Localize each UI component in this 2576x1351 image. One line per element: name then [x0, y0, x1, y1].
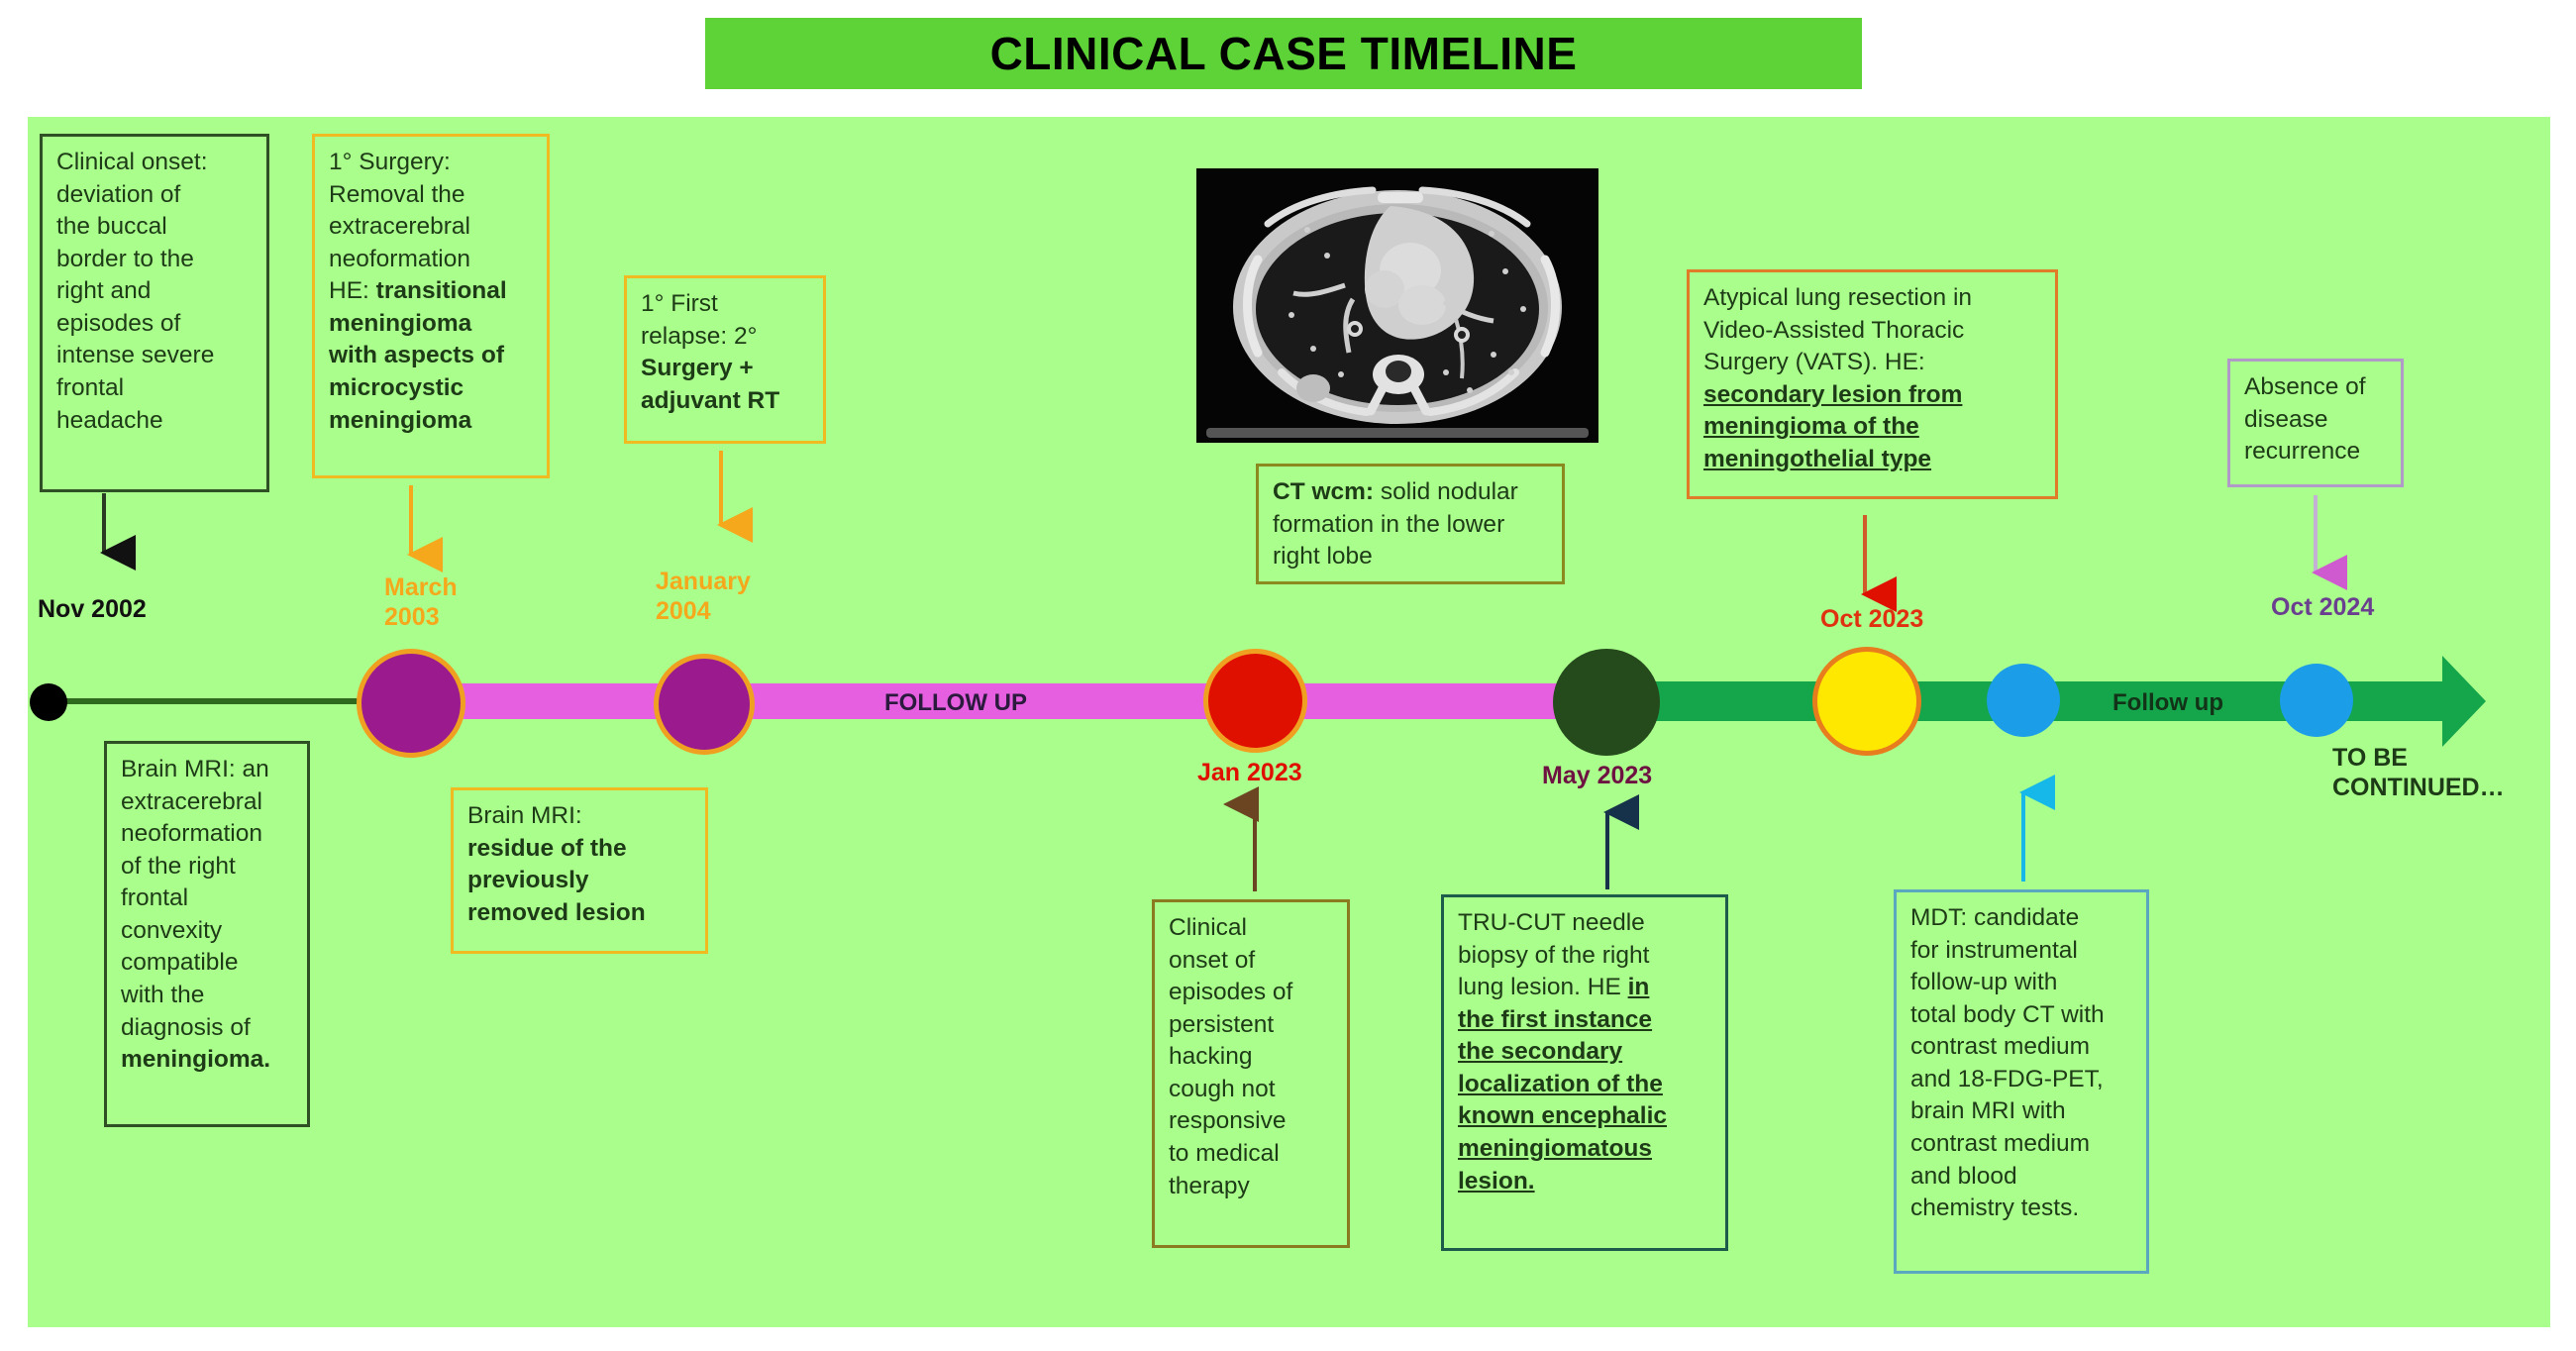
timeline-dot-mdt[interactable] [1987, 664, 2060, 737]
note-line: episodes of [1169, 977, 1335, 1009]
note-line: biopsy of the right [1458, 940, 1713, 973]
note-line: Surgery + [641, 353, 811, 385]
note-line: localization of the [1458, 1069, 1713, 1101]
segment-label-follow-up-2: Follow up [2112, 689, 2223, 717]
note-line: convexity [121, 915, 295, 948]
note-line: brain MRI with [1910, 1095, 2134, 1128]
note-line: microcystic [329, 372, 535, 405]
note-line: cough not [1169, 1074, 1335, 1106]
note-line: secondary lesion from [1703, 379, 2043, 412]
note-line: meningiomatous [1458, 1133, 1713, 1166]
note-line: the buccal [56, 211, 255, 244]
note-brain-mri-initial: Brain MRI: an extracerebral neoformation… [104, 741, 310, 1127]
note-line: episodes of [56, 308, 255, 341]
note-line: lung lesion. HE in [1458, 972, 1713, 1004]
timeline-dot-oct-2024[interactable] [2280, 664, 2353, 737]
note-line: 1° First [641, 288, 811, 321]
clinical-case-timeline-figure: CLINICAL CASE TIMELINE [0, 0, 2576, 1351]
note-line: meningioma [329, 308, 535, 341]
note-line: Video-Assisted Thoracic [1703, 315, 2043, 348]
note-line: TRU-CUT needle [1458, 907, 1713, 940]
chest-ct-axial-scan [1196, 168, 1598, 443]
title-banner: CLINICAL CASE TIMELINE [705, 18, 1862, 89]
note-clinical-onset: Clinical onset: deviation of the buccal … [40, 134, 269, 492]
note-line: right lobe [1273, 541, 1550, 573]
note-line: neoformation [121, 818, 295, 851]
note-line: compatible [121, 947, 295, 980]
note-line: residue of the [467, 833, 693, 866]
note-first-relapse: 1° First relapse: 2° Surgery + adjuvant … [624, 275, 826, 444]
note-line: 1° Surgery: [329, 147, 535, 179]
note-line: diagnosis of [121, 1012, 295, 1045]
note-line: formation in the lower [1273, 509, 1550, 542]
date-label-nov-2002: Nov 2002 [38, 594, 147, 624]
note-line: removed lesion [467, 897, 693, 930]
segment-label-follow-up-1: FOLLOW UP [884, 689, 1027, 717]
note-line: contrast medium [1910, 1128, 2134, 1161]
note-line: CT wcm: solid nodular [1273, 476, 1550, 509]
note-line: meningioma of the [1703, 411, 2043, 444]
note-line: frontal [121, 883, 295, 915]
date-label-oct-2023: Oct 2023 [1820, 604, 1923, 634]
note-line: frontal [56, 372, 255, 405]
lung-nodule [1296, 374, 1330, 402]
note-line: onset of [1169, 945, 1335, 978]
timeline-dot-march-2003[interactable] [357, 649, 465, 758]
timeline-dot-jan-2023[interactable] [1203, 649, 1307, 753]
note-line: and blood [1910, 1161, 2134, 1194]
timeline-dot-january-2004[interactable] [654, 654, 755, 755]
note-line: MDT: candidate [1910, 902, 2134, 935]
note-line: Clinical onset: [56, 147, 255, 179]
note-first-surgery: 1° Surgery: Removal the extracerebral ne… [312, 134, 550, 478]
note-line: neoformation [329, 244, 535, 276]
note-line: adjuvant RT [641, 385, 811, 418]
note-ct-wcm: CT wcm: solid nodular formation in the l… [1256, 464, 1565, 584]
note-line: chemistry tests. [1910, 1193, 2134, 1225]
note-line: recurrence [2244, 436, 2389, 468]
note-line: known encephalic [1458, 1100, 1713, 1133]
timeline-dot-may-2023[interactable] [1553, 649, 1660, 756]
note-line: therapy [1169, 1171, 1335, 1203]
note-line: with the [121, 980, 295, 1012]
note-line: Brain MRI: an [121, 754, 295, 786]
note-line: relapse: 2° [641, 321, 811, 354]
note-line: lesion. [1458, 1166, 1713, 1198]
note-tru-cut-biopsy: TRU-CUT needle biopsy of the right lung … [1441, 894, 1728, 1251]
note-line: Surgery (VATS). HE: [1703, 347, 2043, 379]
note-line: Clinical [1169, 912, 1335, 945]
date-label-jan-2023: Jan 2023 [1197, 758, 1302, 787]
note-line: previously [467, 865, 693, 897]
note-brain-mri-residue: Brain MRI: residue of the previously rem… [451, 787, 708, 954]
note-line: extracerebral [121, 786, 295, 819]
note-line: intense severe [56, 340, 255, 372]
note-vats-resection: Atypical lung resection in Video-Assiste… [1687, 269, 2058, 499]
timeline-arrowhead [2397, 656, 2486, 747]
note-line: contrast medium [1910, 1031, 2134, 1064]
timeline-dot-oct-2023[interactable] [1812, 647, 1921, 756]
note-cough-onset: Clinical onset of episodes of persistent… [1152, 899, 1350, 1248]
note-line: meningioma. [121, 1044, 295, 1077]
note-mdt-followup: MDT: candidate for instrumental follow-u… [1894, 889, 2149, 1274]
date-label-january-2004: January 2004 [656, 567, 751, 626]
note-line: Brain MRI: [467, 800, 693, 833]
note-line: follow-up with [1910, 967, 2134, 999]
note-line: to medical [1169, 1138, 1335, 1171]
note-line: Removal the [329, 179, 535, 212]
note-absence-recurrence: Absence of disease recurrence [2227, 359, 2404, 487]
note-line: Atypical lung resection in [1703, 282, 2043, 315]
note-line: deviation of [56, 179, 255, 212]
note-line: extracerebral [329, 211, 535, 244]
timeline-bar-initial [45, 698, 391, 704]
note-line: right and [56, 275, 255, 308]
note-line: meningioma [329, 405, 535, 438]
note-line: headache [56, 405, 255, 438]
ct-scan-svg [1196, 168, 1598, 443]
note-line: and 18-FDG-PET, [1910, 1064, 2134, 1096]
note-line: total body CT with [1910, 999, 2134, 1032]
note-line: Absence of [2244, 371, 2389, 404]
date-label-may-2023: May 2023 [1542, 761, 1652, 790]
note-line: responsive [1169, 1105, 1335, 1138]
timeline-dot-start[interactable] [30, 683, 67, 721]
note-line: of the right [121, 851, 295, 883]
note-line: HE: transitional [329, 275, 535, 308]
note-line: the first instance [1458, 1004, 1713, 1037]
to-be-continued-label: TO BE CONTINUED… [2332, 743, 2505, 802]
note-line: persistent [1169, 1009, 1335, 1042]
note-line: for instrumental [1910, 935, 2134, 968]
note-line: meningothelial type [1703, 444, 2043, 476]
note-line: border to the [56, 244, 255, 276]
date-label-march-2003: March 2003 [384, 572, 458, 632]
date-label-oct-2024: Oct 2024 [2271, 592, 2374, 622]
note-line: with aspects of [329, 340, 535, 372]
page-title: CLINICAL CASE TIMELINE [990, 27, 1578, 80]
note-line: the secondary [1458, 1036, 1713, 1069]
note-line: hacking [1169, 1041, 1335, 1074]
note-line: disease [2244, 404, 2389, 437]
